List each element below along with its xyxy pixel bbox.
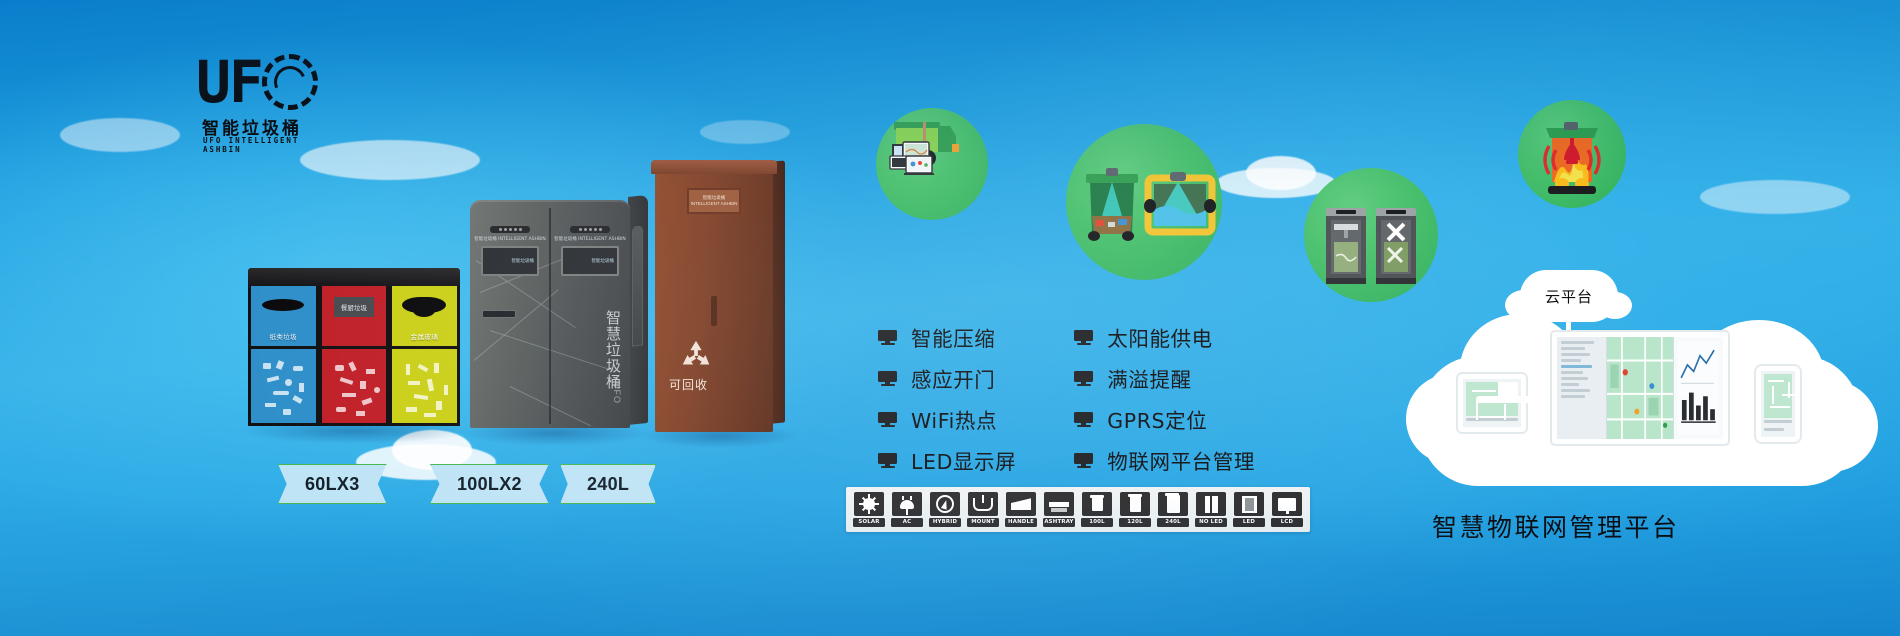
gray-double-bin[interactable]: 智能垃圾桶 INTELLIGENT ASHBIN 智能垃圾桶 智能垃圾桶 INT… — [470, 200, 630, 428]
bin-side-window — [632, 225, 643, 346]
monitor-icon — [878, 371, 897, 386]
option-label: HANDLE — [1005, 518, 1037, 527]
feature-item: GPRS定位 — [1074, 404, 1255, 434]
panel-caption: 智能垃圾桶 INTELLIGENT ASHBIN — [554, 236, 626, 242]
monitor-screen — [1557, 337, 1723, 439]
feature-label: 物联网平台管理 — [1107, 445, 1255, 475]
data-bar — [1466, 418, 1518, 421]
option-label: NO LED — [1195, 518, 1227, 527]
monitor-icon — [878, 453, 897, 468]
bin-recycle-label: 可回收 — [669, 376, 708, 393]
compartment-label: 金属玻璃 — [411, 331, 439, 341]
monitor-icon — [1074, 330, 1093, 345]
option-label: SOLAR — [853, 518, 885, 527]
feature-item: LED显示屏 — [878, 445, 1016, 475]
feature-item: 感应开门 — [878, 363, 1016, 393]
monitor-neck — [1498, 382, 1518, 396]
compartment-label: 餐厨垃圾 — [334, 297, 374, 317]
feature-item: 物联网平台管理 — [1074, 445, 1255, 475]
option-label: AC — [891, 518, 923, 527]
sun-icon — [854, 492, 884, 516]
bin-side-panel — [628, 195, 648, 425]
option-label: 240L — [1157, 518, 1189, 527]
led-indicator-row — [570, 226, 610, 233]
twin-compactor-bin-icon — [1304, 168, 1438, 302]
option-icon-hybrid[interactable]: HYBRID — [929, 492, 961, 527]
capacity-ribbon-240l: 240L — [560, 464, 656, 504]
bin-compartment-paper[interactable]: 纸类垃圾 — [248, 286, 319, 426]
bin-ultrasonic-sensor-icon — [1066, 124, 1222, 280]
litter-graphic — [330, 357, 379, 415]
feature-label: WiFi热点 — [911, 404, 997, 434]
feature-label: 满溢提醒 — [1107, 363, 1191, 393]
product-bin-group: 纸类垃圾 — [0, 0, 760, 636]
triple-sorting-bin[interactable]: 纸类垃圾 — [248, 268, 460, 426]
feature-label: LED显示屏 — [911, 445, 1016, 475]
bin-body: 智能垃圾桶 INTELLIGENT ASHBIN 可回收 — [655, 168, 773, 432]
litter-graphic — [400, 357, 449, 415]
feature-label: 太阳能供电 — [1107, 322, 1213, 352]
banner-root: UF 智能垃圾桶 UFO INTELLIGENT ASHBIN 纸类垃圾 — [0, 0, 1900, 636]
monitor-base — [1476, 396, 1540, 403]
hybrid-bolt-icon — [930, 492, 960, 516]
feature-item: 智能压缩 — [878, 322, 1016, 352]
option-label: MOUNT — [967, 518, 999, 527]
bin-brand-text: UFO — [612, 382, 622, 404]
power-plug-icon — [892, 492, 922, 516]
garbage-truck-icon — [876, 108, 988, 220]
feature-column-1: 智能压缩 感应开门 WiFi热点 LED显示屏 — [878, 322, 1016, 475]
option-icon-lcd[interactable]: LCD — [1271, 492, 1303, 527]
map-widget — [1607, 337, 1673, 439]
ashtray-icon — [1044, 492, 1074, 516]
bin-120l-icon — [1120, 492, 1150, 516]
bin-seam — [549, 208, 551, 424]
bin-lid — [248, 268, 460, 286]
bin-display-screen[interactable]: 智能垃圾桶 INTELLIGENT ASHBIN — [687, 188, 741, 214]
monitor-icon — [878, 412, 897, 427]
recycle-icon — [677, 338, 715, 372]
desktop-monitor[interactable] — [1552, 332, 1728, 444]
bin-screen-text: 智能垃圾桶 — [512, 258, 535, 264]
option-label: HYBRID — [929, 518, 961, 527]
feature-circle-waste-compaction — [1304, 168, 1438, 302]
capacity-ribbon-100lx2: 100LX2 — [430, 464, 549, 504]
option-label: LCD — [1271, 518, 1303, 527]
option-icon-mount[interactable]: MOUNT — [967, 492, 999, 527]
fire-alarm-bell-icon — [1518, 100, 1626, 208]
bin-display-screen[interactable]: 智能垃圾桶 — [561, 246, 619, 276]
compartment-display: 餐厨垃圾 — [331, 294, 377, 320]
monitor-icon — [878, 330, 897, 345]
wall-mount-icon — [968, 492, 998, 516]
oval-slot-icon — [262, 299, 304, 311]
litter-graphic — [259, 357, 308, 415]
card-reader-slot[interactable] — [482, 310, 516, 318]
bin-compartment-kitchen[interactable]: 餐厨垃圾 — [319, 286, 390, 426]
bin-100l-icon — [1082, 492, 1112, 516]
option-icon-100l[interactable]: 100L — [1081, 492, 1113, 527]
handle-icon — [1006, 492, 1036, 516]
feature-circle-fire-alarm — [1518, 100, 1626, 208]
dashboard-sidebar — [1557, 337, 1607, 439]
compartment-label: 纸类垃圾 — [269, 331, 297, 341]
dashboard-charts — [1673, 337, 1723, 439]
monitor-icon — [1074, 453, 1093, 468]
phone-screen — [1761, 371, 1795, 437]
option-icon-led[interactable]: LED — [1233, 492, 1265, 527]
led-screen-icon — [1234, 492, 1264, 516]
option-label: LED — [1233, 518, 1265, 527]
option-icon-ac[interactable]: AC — [891, 492, 923, 527]
feature-circle-fleet-management — [876, 108, 988, 220]
cloud-decoration — [1700, 180, 1850, 214]
option-icon-handle[interactable]: HANDLE — [1005, 492, 1037, 527]
brown-recycling-bin[interactable]: 智能垃圾桶 INTELLIGENT ASHBIN 可回收 — [655, 168, 773, 432]
map-widget — [1764, 374, 1792, 418]
bin-body: 智能垃圾桶 INTELLIGENT ASHBIN 智能垃圾桶 智能垃圾桶 INT… — [470, 200, 630, 428]
feature-column-2: 太阳能供电 满溢提醒 GPRS定位 物联网平台管理 — [1074, 322, 1255, 475]
led-indicator-row — [490, 226, 530, 233]
smartphone-device[interactable] — [1756, 366, 1800, 442]
feature-label: 智能压缩 — [911, 322, 995, 352]
cloud-platform-tag: 云平台 — [1520, 270, 1618, 322]
monitor-icon — [1074, 412, 1093, 427]
bin-compartment-metal-glass[interactable]: 金属玻璃 — [389, 286, 460, 426]
option-icon-120l[interactable]: 120L — [1119, 492, 1151, 527]
option-label: 100L — [1081, 518, 1113, 527]
capacity-ribbon-60lx3: 60LX3 — [278, 464, 387, 504]
bin-screen-text: 智能垃圾桶 — [592, 258, 615, 264]
feature-label: GPRS定位 — [1107, 404, 1207, 434]
bin-display-screen[interactable]: 智能垃圾桶 — [481, 246, 539, 276]
panel-caption: 智能垃圾桶 INTELLIGENT ASHBIN — [474, 236, 546, 242]
feature-item: 满溢提醒 — [1074, 363, 1255, 393]
feature-circle-fill-level-sensing — [1066, 124, 1222, 280]
feature-item: WiFi热点 — [878, 404, 1016, 434]
bin-panel-right[interactable]: 智能垃圾桶 INTELLIGENT ASHBIN 智能垃圾桶 智慧垃圾桶 UFO — [554, 214, 626, 420]
option-label: ASHTRAY — [1043, 518, 1075, 527]
lcd-screen-icon — [1272, 492, 1302, 516]
option-icon-solar[interactable]: SOLAR — [853, 492, 885, 527]
option-icon-strip: SOLAR AC HYBRID MOUNT HANDLE — [846, 487, 1310, 532]
bin-240l-icon — [1158, 492, 1188, 516]
bin-vertical-text: 智慧垃圾桶 — [600, 310, 620, 390]
data-bar — [1764, 420, 1792, 423]
option-icon-ashtray[interactable]: ASHTRAY — [1043, 492, 1075, 527]
feature-item: 太阳能供电 — [1074, 322, 1255, 352]
peanut-slot-icon — [402, 297, 446, 313]
data-bar — [1764, 428, 1784, 431]
feature-label: 感应开门 — [911, 363, 995, 393]
option-label: 120L — [1119, 518, 1151, 527]
platform-caption: 智慧物联网管理平台 — [1432, 508, 1680, 544]
feature-list: 智能压缩 感应开门 WiFi热点 LED显示屏 — [878, 322, 1255, 475]
no-led-icon — [1196, 492, 1226, 516]
bin-lid — [651, 160, 777, 174]
bin-panel-left[interactable]: 智能垃圾桶 INTELLIGENT ASHBIN 智能垃圾桶 — [474, 214, 546, 420]
bin-screen-text: 智能垃圾桶 INTELLIGENT ASHBIN — [689, 195, 739, 207]
option-icon-no-led[interactable]: NO LED — [1195, 492, 1227, 527]
bin-drop-slot[interactable] — [711, 296, 717, 326]
monitor-icon — [1074, 371, 1093, 386]
option-icon-240l[interactable]: 240L — [1157, 492, 1189, 527]
